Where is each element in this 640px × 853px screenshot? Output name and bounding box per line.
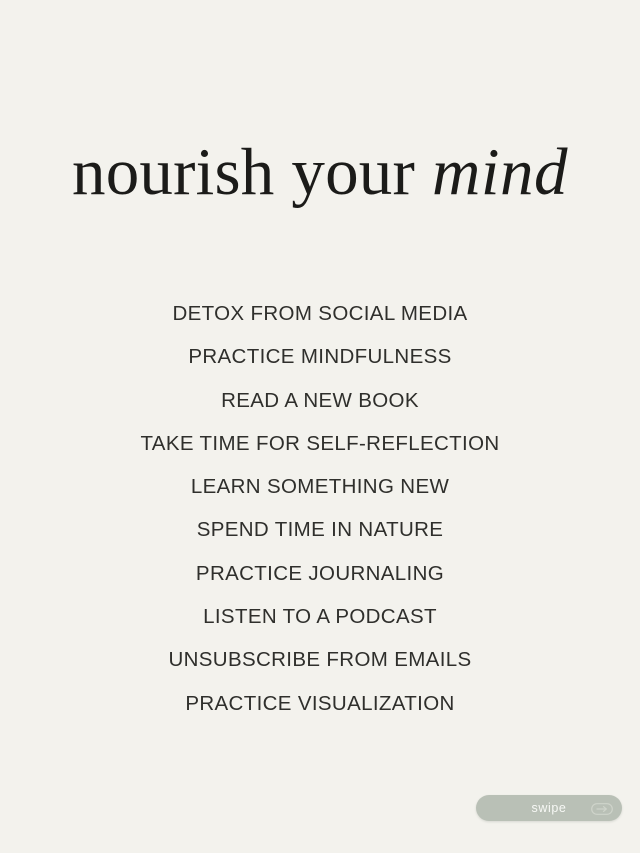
list-item: Unsubscribe from emails <box>0 638 640 681</box>
swipe-button[interactable]: swipe <box>476 795 622 821</box>
list-item: Listen to a podcast <box>0 595 640 638</box>
list-item: Practice visualization <box>0 682 640 725</box>
page-title: nourish your mind <box>0 139 640 206</box>
list-item: Spend time in nature <box>0 508 640 551</box>
title-regular-part: nourish your <box>72 135 432 209</box>
list-item: Read a new book <box>0 379 640 422</box>
title-accent-part: mind <box>432 135 568 209</box>
list-item: Practice mindfulness <box>0 335 640 378</box>
list-item: Detox from social media <box>0 292 640 335</box>
list-item: Practice journaling <box>0 552 640 595</box>
title-text: nourish your mind <box>0 139 640 206</box>
list-item: Learn something new <box>0 465 640 508</box>
tips-list: Detox from social media Practice mindful… <box>0 292 640 725</box>
quote-card: nourish your mind Detox from social medi… <box>0 0 640 853</box>
list-item: Take time for self-reflection <box>0 422 640 465</box>
arrow-right-icon <box>591 802 613 814</box>
swipe-button-label: swipe <box>532 802 567 815</box>
